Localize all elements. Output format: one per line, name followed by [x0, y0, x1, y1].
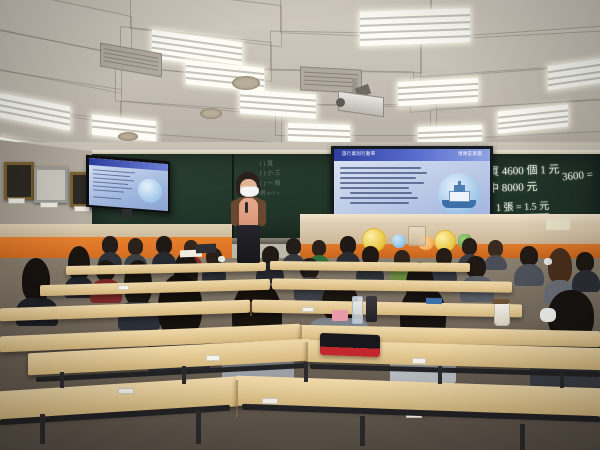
desk-label — [118, 285, 129, 290]
projector-lens-icon — [336, 98, 345, 107]
laptop-or-folder — [196, 244, 216, 254]
presenter-top — [239, 198, 258, 227]
slide-body-line — [340, 172, 427, 174]
blue-ornament — [392, 234, 406, 248]
student-body — [514, 264, 544, 286]
wall-upper-left-beige — [0, 224, 232, 237]
glass-jar — [408, 226, 426, 246]
presenter-arm-right — [258, 200, 266, 226]
presenter-arm-left — [231, 200, 239, 226]
framed-painting-1 — [4, 162, 34, 200]
coffee-cup-lid — [492, 299, 510, 304]
blackboard-note-right-0: 買 4600 個 1 元 — [488, 161, 560, 179]
wall-poster — [546, 218, 570, 230]
coffee-cup — [494, 302, 510, 326]
student-head — [128, 238, 143, 255]
student-head — [312, 240, 326, 256]
slide-body-line — [340, 197, 418, 199]
slide-body-line — [340, 187, 409, 189]
blackboard-note-left-0: ( ) 直 — [260, 158, 273, 167]
water-bottle — [352, 296, 363, 324]
desk-label — [118, 388, 134, 394]
framed-print-2 — [34, 167, 68, 203]
microphone-icon — [245, 202, 248, 213]
student-head — [520, 246, 538, 266]
blue-booklet — [426, 298, 442, 304]
tv-wall-mount — [122, 209, 132, 218]
student-body — [572, 270, 600, 292]
student-hair — [548, 248, 572, 284]
ferry-boat-illustration — [438, 173, 480, 215]
student-head — [286, 238, 301, 255]
slide-body-line — [350, 192, 412, 194]
face-mask — [544, 258, 552, 265]
slide-body-line — [340, 167, 421, 169]
slide-body-line — [340, 182, 424, 184]
slide-content: 旅行萬則行動單 領隊是旅團 — [334, 149, 490, 221]
pink-pouch — [332, 310, 348, 321]
blackboard-note-right-1: 中 8000 元 — [488, 178, 538, 196]
projection-screen: 旅行萬則行動單 領隊是旅團 — [331, 146, 493, 224]
face-mask-icon — [240, 186, 259, 197]
face-mask — [218, 256, 225, 262]
wall-display-boat-icon — [138, 177, 162, 203]
wall-mounted-display — [86, 155, 170, 214]
slide-title-left: 旅行萬則行動單 — [342, 151, 376, 157]
artwork-plaque-2 — [40, 202, 58, 208]
smoke-detector-3 — [118, 132, 138, 141]
presenter — [228, 172, 270, 264]
smoke-detector-1 — [232, 76, 260, 90]
student-head — [462, 238, 477, 255]
travel-tumbler — [366, 296, 377, 322]
wall-display-content — [89, 157, 168, 210]
classroom-photo: ( ) 直 ( ) 小 三 ( ) 一 格 例 4=? = 買 4600 個 1… — [0, 0, 600, 450]
artwork-plaque-1 — [8, 198, 25, 204]
slide-body-line — [340, 177, 416, 179]
desk-label — [412, 358, 426, 364]
smoke-detector-2 — [200, 108, 222, 119]
desk-label — [302, 307, 314, 312]
face-mask-foreground — [540, 308, 556, 322]
desk-label — [206, 355, 220, 361]
blackboard-note-far-right: 3600 = — [562, 169, 594, 184]
slide-body-line — [350, 202, 409, 204]
red-black-bag — [320, 333, 380, 357]
desk-label — [262, 398, 278, 404]
student-head — [576, 252, 594, 272]
slide-title-right: 領隊是旅團 — [458, 151, 482, 157]
presenter-pants — [237, 225, 260, 263]
